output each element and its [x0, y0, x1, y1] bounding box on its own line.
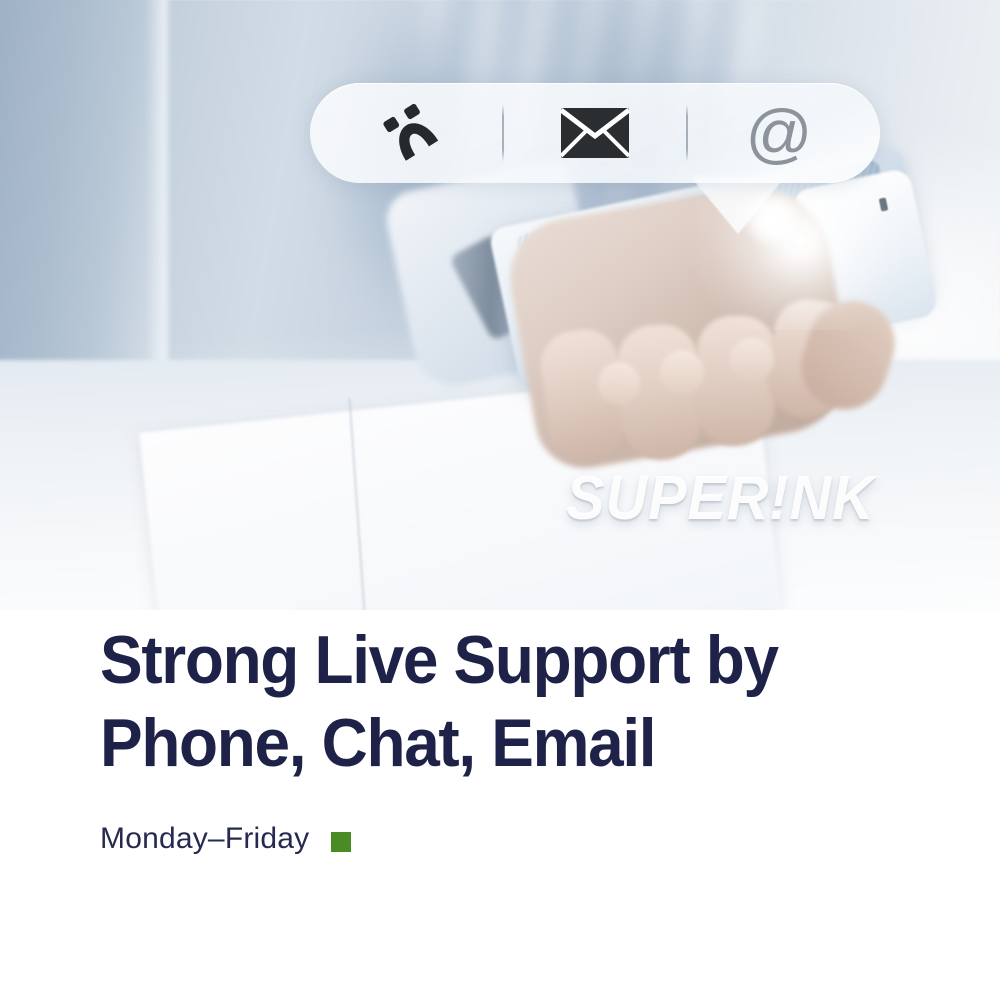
pill-divider-2	[686, 105, 688, 161]
accent-square	[331, 832, 351, 852]
fingernail-2	[660, 350, 704, 394]
support-banner: @ SUPER!NK Strong Live Support by Phone,…	[0, 0, 1000, 1000]
contact-methods-pill: @	[310, 83, 880, 183]
at-sign-contact-option[interactable]: @	[724, 98, 834, 168]
pill-divider-1	[502, 105, 504, 161]
email-contact-option[interactable]	[540, 98, 650, 168]
envelope-icon	[560, 107, 630, 159]
availability-row: Monday–Friday	[100, 822, 351, 856]
light-flare-core	[742, 188, 802, 248]
page-title: Strong Live Support by Phone, Chat, Emai…	[100, 619, 778, 785]
fingernail-3	[730, 338, 774, 380]
finger-3	[694, 315, 778, 448]
fingernail-1	[598, 362, 640, 404]
phone-icon	[382, 104, 440, 162]
phone-contact-option[interactable]	[356, 98, 466, 168]
availability-label: Monday–Friday	[100, 822, 309, 856]
at-sign-icon: @	[746, 100, 813, 166]
content-area: Strong Live Support by Phone, Chat, Emai…	[0, 610, 1000, 1000]
hero-photo: @ SUPER!NK	[0, 0, 1000, 610]
